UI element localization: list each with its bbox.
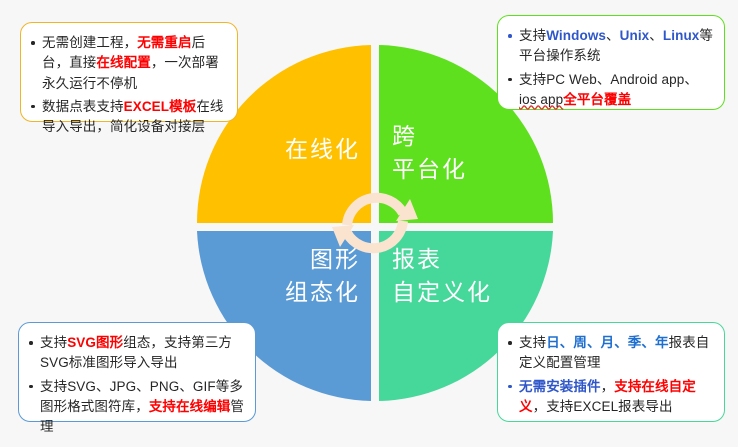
list-item: 支持SVG、JPG、PNG、GIF等多图形格式图符库，支持在线编辑管理	[27, 377, 245, 438]
text-run: 全平台覆盖	[563, 92, 631, 107]
text-run: 数据点表支持	[42, 99, 124, 114]
text-run: 无需安装插件	[519, 379, 601, 394]
text-run: 在线配置	[96, 55, 150, 70]
text-run: Unix	[620, 28, 650, 43]
callout-online: 无需创建工程，无需重启后台，直接在线配置，一次部署永久运行不停机数据点表支持EX…	[20, 22, 238, 122]
list-item: 无需创建工程，无需重启后台，直接在线配置，一次部署永久运行不停机	[29, 33, 227, 94]
callout-cross-platform-list: 支持Windows、Unix、Linux等平台操作系统支持PC Web、Andr…	[506, 26, 714, 110]
callout-graphic-list: 支持SVG图形组态，支持第三方SVG标准图形导入导出支持SVG、JPG、PNG、…	[27, 333, 245, 437]
text-run: 支持	[519, 335, 546, 350]
list-item: 支持SVG图形组态，支持第三方SVG标准图形导入导出	[27, 333, 245, 374]
text-run: 支持	[519, 28, 546, 43]
callout-cross-platform: 支持Windows、Unix、Linux等平台操作系统支持PC Web、Andr…	[497, 15, 725, 110]
text-run: Linux	[663, 28, 700, 43]
list-item: 支持日、周、月、季、年报表自定义配置管理	[506, 333, 714, 374]
text-run: 支持PC Web、Android app、	[519, 72, 698, 87]
list-item: 支持Windows、Unix、Linux等平台操作系统	[506, 26, 714, 67]
callout-graphic: 支持SVG图形组态，支持第三方SVG标准图形导入导出支持SVG、JPG、PNG、…	[18, 322, 256, 422]
text-run: Windows	[546, 28, 606, 43]
list-item: 数据点表支持EXCEL模板在线导入导出，简化设备对接层	[29, 97, 227, 138]
text-run: 日、周、月、季、年	[546, 335, 668, 350]
list-item: 支持PC Web、Android app、ios app全平台覆盖	[506, 70, 714, 111]
callout-report: 支持日、周、月、季、年报表自定义配置管理无需安装插件，支持在线自定义，支持EXC…	[497, 322, 725, 422]
callout-report-list: 支持日、周、月、季、年报表自定义配置管理无需安装插件，支持在线自定义，支持EXC…	[506, 333, 714, 417]
text-run: EXCEL模板	[124, 99, 197, 114]
text-run: ，支持EXCEL报表导出	[533, 399, 673, 414]
text-run: SVG图形	[67, 335, 123, 350]
text-run: ，	[601, 379, 615, 394]
infographic-canvas: 在线化 跨 平台化 图形 组态化 报表 自定义化 无需创建工程，无需重启后台，直…	[0, 0, 738, 447]
text-run: 支持在线编辑	[149, 399, 231, 414]
text-run: ios app	[519, 92, 563, 107]
text-run: 无需创建工程，	[42, 35, 137, 50]
text-run: 、	[606, 28, 620, 43]
callout-online-list: 无需创建工程，无需重启后台，直接在线配置，一次部署永久运行不停机数据点表支持EX…	[29, 33, 227, 137]
text-run: 支持	[40, 335, 67, 350]
text-run: 、	[649, 28, 663, 43]
text-run: 无需重启	[137, 35, 191, 50]
list-item: 无需安装插件，支持在线自定义，支持EXCEL报表导出	[506, 377, 714, 418]
